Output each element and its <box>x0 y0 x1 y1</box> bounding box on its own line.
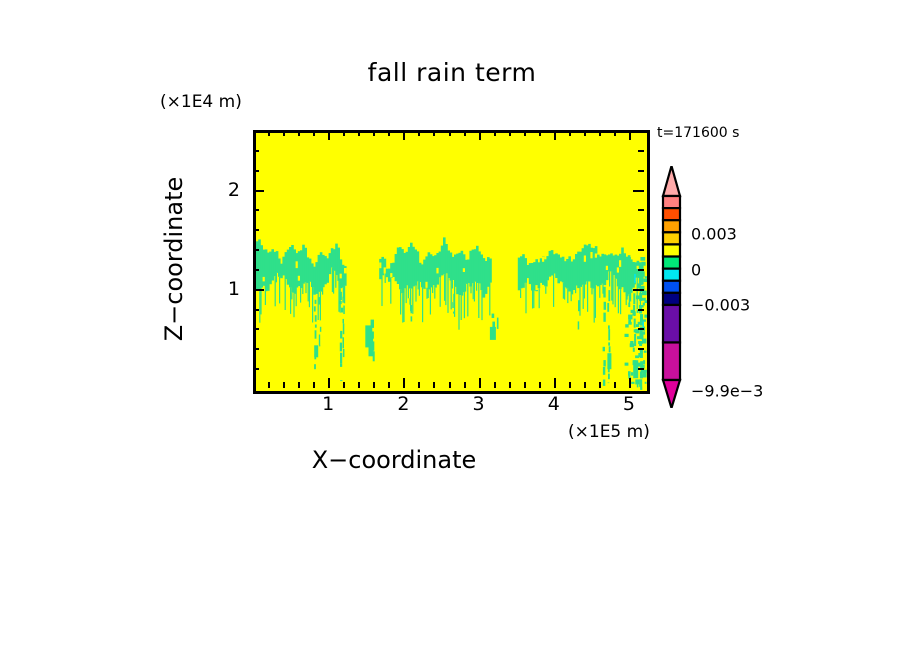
z-axis-unit-label: (×1E4 m) <box>160 92 242 112</box>
x-tick-label: 1 <box>322 393 334 415</box>
colorbar-segment <box>663 305 680 343</box>
tick-mark <box>638 150 644 152</box>
tick-mark <box>298 130 300 136</box>
tick-mark <box>253 348 259 350</box>
tick-mark <box>449 130 451 136</box>
tick-mark <box>614 130 616 136</box>
tick-mark <box>638 348 644 350</box>
tick-mark <box>554 378 556 388</box>
colorbar-segment <box>663 220 680 232</box>
colorbar-segment <box>663 232 680 244</box>
tick-mark <box>328 378 330 388</box>
colorbar-tick-label: −9.9e−3 <box>691 382 763 401</box>
tick-mark <box>638 269 644 271</box>
tick-mark <box>253 328 259 330</box>
page-title: fall rain term <box>0 58 904 87</box>
tick-mark <box>638 229 644 231</box>
tick-mark <box>343 130 345 136</box>
tick-mark <box>638 209 644 211</box>
tick-mark <box>373 382 375 388</box>
y-tick-label: 1 <box>216 278 240 300</box>
tick-mark <box>388 382 390 388</box>
tick-mark <box>388 130 390 136</box>
colorbar <box>660 166 684 408</box>
colorbar-overflow-arrow-bottom <box>663 380 680 408</box>
tick-mark <box>638 249 644 251</box>
tick-mark <box>403 378 405 388</box>
tick-mark <box>268 382 270 388</box>
tick-mark <box>253 289 264 291</box>
x-axis-title: X−coordinate <box>0 446 904 474</box>
colorbar-segment <box>663 257 680 269</box>
colorbar-segment <box>663 208 680 220</box>
tick-mark <box>509 130 511 136</box>
tick-mark <box>539 130 541 136</box>
tick-mark <box>449 382 451 388</box>
tick-mark <box>433 382 435 388</box>
tick-mark <box>524 130 526 136</box>
tick-mark <box>253 229 259 231</box>
tick-mark <box>633 289 644 291</box>
colorbar-segment <box>663 293 680 305</box>
colorbar-segment <box>663 342 680 380</box>
tick-mark <box>253 209 259 211</box>
tick-mark <box>509 382 511 388</box>
colorbar-tick-label: −0.003 <box>691 296 750 315</box>
tick-mark <box>629 130 631 140</box>
colorbar-segment <box>663 196 680 208</box>
heatmap-canvas <box>256 133 647 391</box>
tick-mark <box>253 170 259 172</box>
tick-mark <box>358 130 360 136</box>
tick-mark <box>283 130 285 136</box>
tick-mark <box>253 249 259 251</box>
x-tick-label: 3 <box>473 393 485 415</box>
tick-mark <box>479 378 481 388</box>
tick-mark <box>373 130 375 136</box>
tick-mark <box>569 382 571 388</box>
y-tick-label: 2 <box>216 179 240 201</box>
tick-mark <box>418 130 420 136</box>
x-axis-unit-label: (×1E5 m) <box>568 422 650 442</box>
tick-mark <box>584 130 586 136</box>
colorbar-segment <box>663 281 680 293</box>
tick-mark <box>494 382 496 388</box>
tick-mark <box>253 368 259 370</box>
tick-mark <box>599 130 601 136</box>
tick-mark <box>629 378 631 388</box>
tick-mark <box>433 130 435 136</box>
tick-mark <box>638 170 644 172</box>
tick-mark <box>633 190 644 192</box>
x-axis-title-text: X−coordinate <box>312 446 477 474</box>
tick-mark <box>313 382 315 388</box>
tick-mark <box>554 130 556 140</box>
x-tick-label: 4 <box>548 393 560 415</box>
tick-mark <box>599 382 601 388</box>
tick-mark <box>464 382 466 388</box>
plot-area <box>253 130 650 394</box>
tick-mark <box>253 190 264 192</box>
tick-mark <box>313 130 315 136</box>
tick-mark <box>569 130 571 136</box>
tick-mark <box>638 328 644 330</box>
tick-mark <box>358 382 360 388</box>
colorbar-tick-label: 0.003 <box>691 225 737 244</box>
tick-mark <box>524 382 526 388</box>
tick-mark <box>328 130 330 140</box>
tick-mark <box>584 382 586 388</box>
x-tick-label: 2 <box>397 393 409 415</box>
tick-mark <box>464 130 466 136</box>
y-axis-title: Z−coordinate <box>160 177 188 342</box>
colorbar-tick-label: 0 <box>691 261 701 280</box>
tick-mark <box>403 130 405 140</box>
tick-mark <box>418 382 420 388</box>
colorbar-overflow-arrow-top <box>663 166 680 196</box>
tick-mark <box>638 368 644 370</box>
tick-mark <box>298 382 300 388</box>
colorbar-segment <box>663 244 680 256</box>
tick-mark <box>343 382 345 388</box>
tick-mark <box>253 269 259 271</box>
tick-mark <box>479 130 481 140</box>
timestamp-annotation: t=171600 s <box>657 125 739 141</box>
tick-mark <box>614 382 616 388</box>
tick-mark <box>283 382 285 388</box>
tick-mark <box>638 309 644 311</box>
tick-mark <box>539 382 541 388</box>
tick-mark <box>494 130 496 136</box>
colorbar-swatches <box>660 166 684 408</box>
colorbar-segment <box>663 269 680 281</box>
figure-root: fall rain term (×1E4 m) t=171600 s 12345… <box>0 0 904 654</box>
tick-mark <box>253 309 259 311</box>
tick-mark <box>253 150 259 152</box>
x-tick-label: 5 <box>623 393 635 415</box>
tick-mark <box>268 130 270 136</box>
